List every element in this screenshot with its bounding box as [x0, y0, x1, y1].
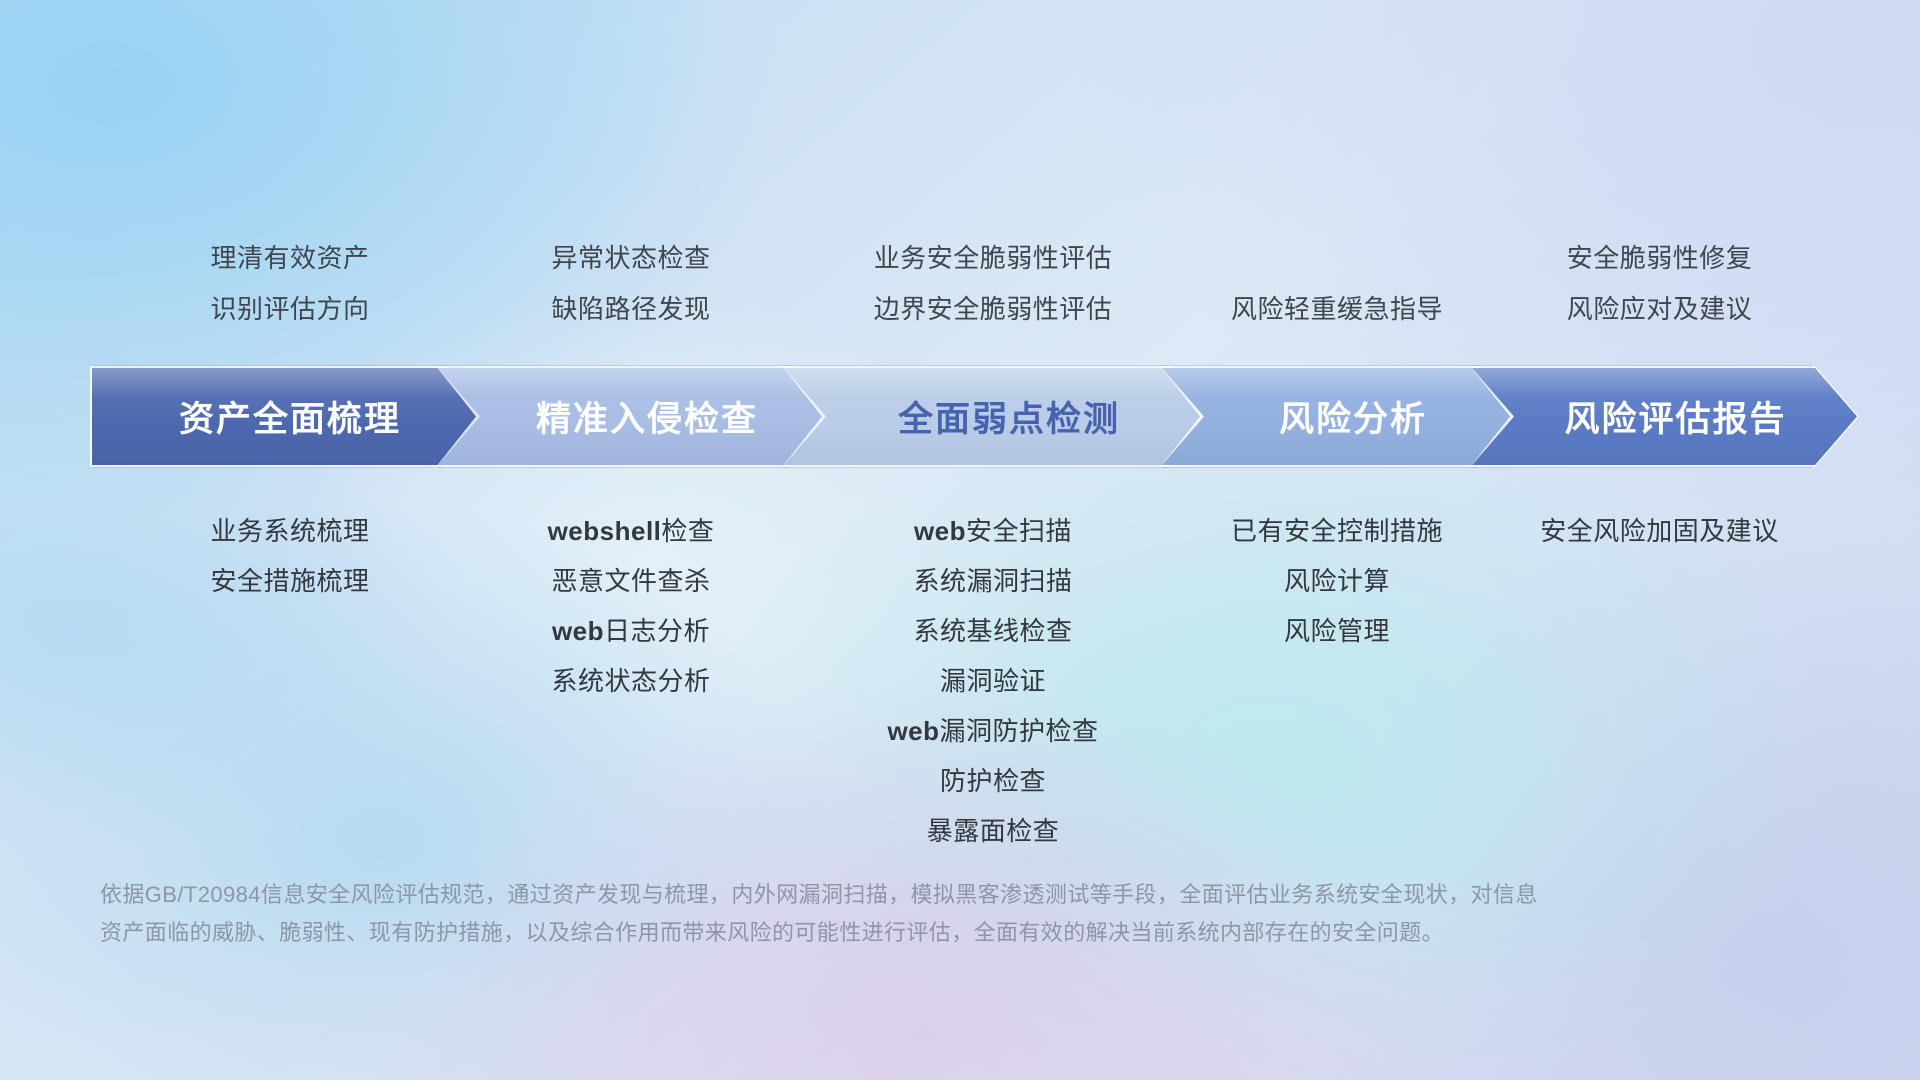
bottom-list-item-text: 安全风险加固及建议: [1540, 516, 1779, 546]
bottom-list-item-text: 日志分析: [604, 616, 710, 646]
bottom-list-item-lead: web: [914, 516, 966, 546]
stage-chevron-risk-report[interactable]: 风险评估报告: [1472, 368, 1857, 465]
stage-chevron-intrusion-check[interactable]: 精准入侵检查: [438, 368, 834, 465]
bottom-list-item-lead: web: [552, 616, 604, 646]
stage-chevron-label: 全面弱点检测: [898, 391, 1120, 442]
bottom-list-item: 暴露面检查: [773, 818, 1213, 844]
bottom-items-risk-report: 安全风险加固及建议: [1440, 518, 1880, 544]
stage-chevron-risk-analysis[interactable]: 风险分析: [1162, 368, 1522, 465]
bottom-list-item-text: 漏洞防护检查: [940, 716, 1099, 746]
bottom-list-item-text: 防护检查: [940, 766, 1046, 796]
top-labels-risk-report: 安全脆弱性修复风险应对及建议: [1440, 245, 1880, 322]
bottom-list-item: 漏洞验证: [773, 668, 1213, 694]
bottom-list-item-text: 安全措施梳理: [210, 566, 369, 596]
bottom-list-item-lead: webshell: [548, 516, 662, 546]
bottom-list-item: 防护检查: [773, 768, 1213, 794]
bottom-list-item-text: 业务系统梳理: [210, 516, 369, 546]
footer-description: 依据GB/T20984信息安全风险评估规范，通过资产发现与梳理，内外网漏洞扫描，…: [100, 876, 1740, 952]
bottom-list-item-text: 系统状态分析: [551, 666, 710, 696]
bottom-list-item-text: 漏洞验证: [940, 666, 1046, 696]
bottom-list-item-text: 检查: [661, 516, 714, 546]
bottom-list-item-lead: web: [887, 716, 939, 746]
stage-chevron-weakness-detection[interactable]: 全面弱点检测: [784, 368, 1212, 465]
stage-chevron-label: 风险分析: [1279, 391, 1427, 442]
bottom-list-item-text: 系统漏洞扫描: [913, 566, 1072, 596]
bottom-list-item-text: 暴露面检查: [927, 816, 1060, 846]
footer-line-2: 资产面临的威胁、脆弱性、现有防护措施，以及综合作用而带来风险的可能性进行评估，全…: [100, 914, 1740, 952]
bottom-list-item-text: 风险计算: [1284, 566, 1390, 596]
bottom-list-item-text: 风险管理: [1284, 616, 1390, 646]
top-label-item: 风险应对及建议: [1440, 296, 1880, 322]
bottom-list-item-text: 系统基线检查: [913, 616, 1072, 646]
stage-chevron-label: 精准入侵检查: [536, 391, 758, 442]
bottom-list-item-text: 恶意文件查杀: [551, 566, 710, 596]
bottom-list-item-text: 安全扫描: [966, 516, 1072, 546]
process-diagram: 理清有效资产识别评估方向 异常状态检查缺陷路径发现 业务安全脆弱性评估边界安全脆…: [0, 0, 1920, 1080]
footer-line-1: 依据GB/T20984信息安全风险评估规范，通过资产发现与梳理，内外网漏洞扫描，…: [100, 876, 1740, 914]
stage-chevron-label: 风险评估报告: [1564, 391, 1786, 442]
stage-chevron-asset-inventory[interactable]: 资产全面梳理: [92, 368, 488, 465]
bottom-list-item-text: 已有安全控制措施: [1231, 516, 1443, 546]
bottom-list-item: 风险计算: [1117, 568, 1557, 594]
bottom-list-item: 风险管理: [1117, 618, 1557, 644]
top-label-item: 安全脆弱性修复: [1440, 245, 1880, 271]
top-label-item: 业务安全脆弱性评估: [773, 245, 1213, 271]
stage-chevron-band: 资产全面梳理精准入侵检查全面弱点检测风险分析风险评估报告: [0, 368, 1920, 468]
stage-chevron-label: 资产全面梳理: [179, 391, 401, 442]
bottom-list-item: web漏洞防护检查: [773, 718, 1213, 744]
bottom-list-item: 安全风险加固及建议: [1440, 518, 1880, 544]
